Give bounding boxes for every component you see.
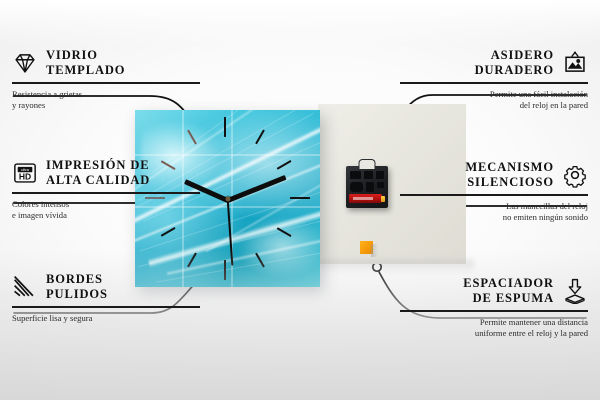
quartz-movement-mechanism[interactable]: [346, 166, 388, 208]
svg-text:HD: HD: [19, 171, 31, 181]
feature-description: Permite una fácil instalación del reloj …: [400, 89, 588, 111]
divider: [12, 306, 200, 308]
foam-spacer-icon: [562, 278, 588, 304]
infographic-canvas: VIDRIO TEMPLADO Resistencia a grietas y …: [0, 0, 600, 400]
feature-espaciador-de-espuma[interactable]: ESPACIADOR DE ESPUMA Permite mantener un…: [400, 276, 588, 339]
ultra-hd-badge-icon: ultra HD: [12, 160, 38, 186]
clock-hands-hub: [225, 196, 230, 201]
divider: [400, 194, 588, 196]
feature-description: Las manecillas del reloj no emiten ningú…: [400, 201, 588, 223]
foam-spacer-part[interactable]: [360, 241, 373, 254]
second-hand: [227, 199, 233, 265]
feature-title: VIDRIO TEMPLADO: [46, 48, 125, 77]
feature-title: ESPACIADOR DE ESPUMA: [463, 276, 554, 305]
feature-mecanismo-silencioso[interactable]: MECANISMO SILENCIOSO Las manecillas del …: [400, 160, 588, 223]
hanging-hook-icon: [359, 159, 376, 169]
feature-title: ASIDERO DURADERO: [475, 48, 554, 77]
feature-description: Resistencia a grietas y rayones: [12, 89, 200, 111]
polished-edges-icon: [12, 274, 38, 300]
feature-description: Superficie lisa y segura: [12, 313, 200, 324]
divider: [12, 82, 200, 84]
feature-description: Colores intensos e imagen vívida: [12, 199, 200, 221]
gear-icon: [562, 162, 588, 188]
feature-title: IMPRESIÓN DE ALTA CALIDAD: [46, 158, 150, 187]
divider: [400, 82, 588, 84]
divider: [400, 310, 588, 312]
feature-title: BORDES PULIDOS: [46, 272, 108, 301]
feature-title: MECANISMO SILENCIOSO: [465, 160, 554, 189]
feature-impresion-alta-calidad[interactable]: ultra HD IMPRESIÓN DE ALTA CALIDAD Color…: [12, 158, 200, 221]
feature-vidrio-templado[interactable]: VIDRIO TEMPLADO Resistencia a grietas y …: [12, 48, 200, 111]
diamond-icon: [12, 50, 38, 76]
feature-bordes-pulidos[interactable]: BORDES PULIDOS Superficie lisa y segura: [12, 272, 200, 324]
battery: [349, 194, 382, 203]
feature-asidero-duradero[interactable]: ASIDERO DURADERO Permite una fácil insta…: [400, 48, 588, 111]
top-fade-overlay: [0, 0, 600, 46]
divider: [12, 192, 200, 194]
minute-hand: [227, 175, 286, 202]
hanging-frame-icon: [562, 50, 588, 76]
feature-description: Permite mantener una distancia uniforme …: [400, 317, 588, 339]
